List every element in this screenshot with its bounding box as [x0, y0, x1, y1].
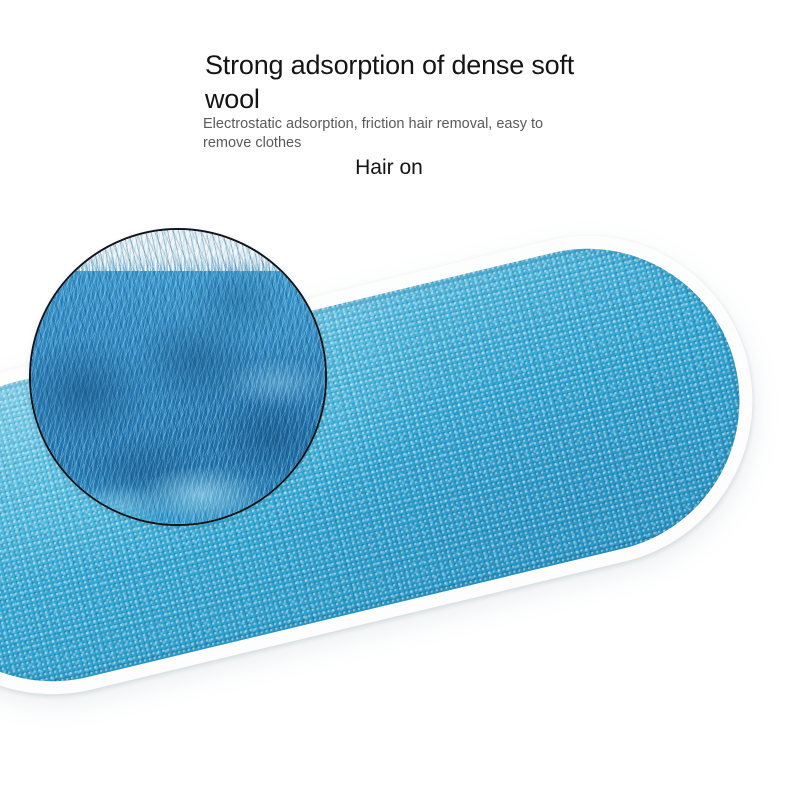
page-title: Strong adsorption of dense soft wool — [205, 48, 577, 116]
product-feature-image: Strong adsorption of dense soft wool Ele… — [0, 0, 800, 800]
magnified-fiber-detail — [29, 228, 327, 526]
tagline-text: Hair on — [203, 155, 575, 181]
subtitle-text: Electrostatic adsorption, friction hair … — [203, 115, 595, 153]
